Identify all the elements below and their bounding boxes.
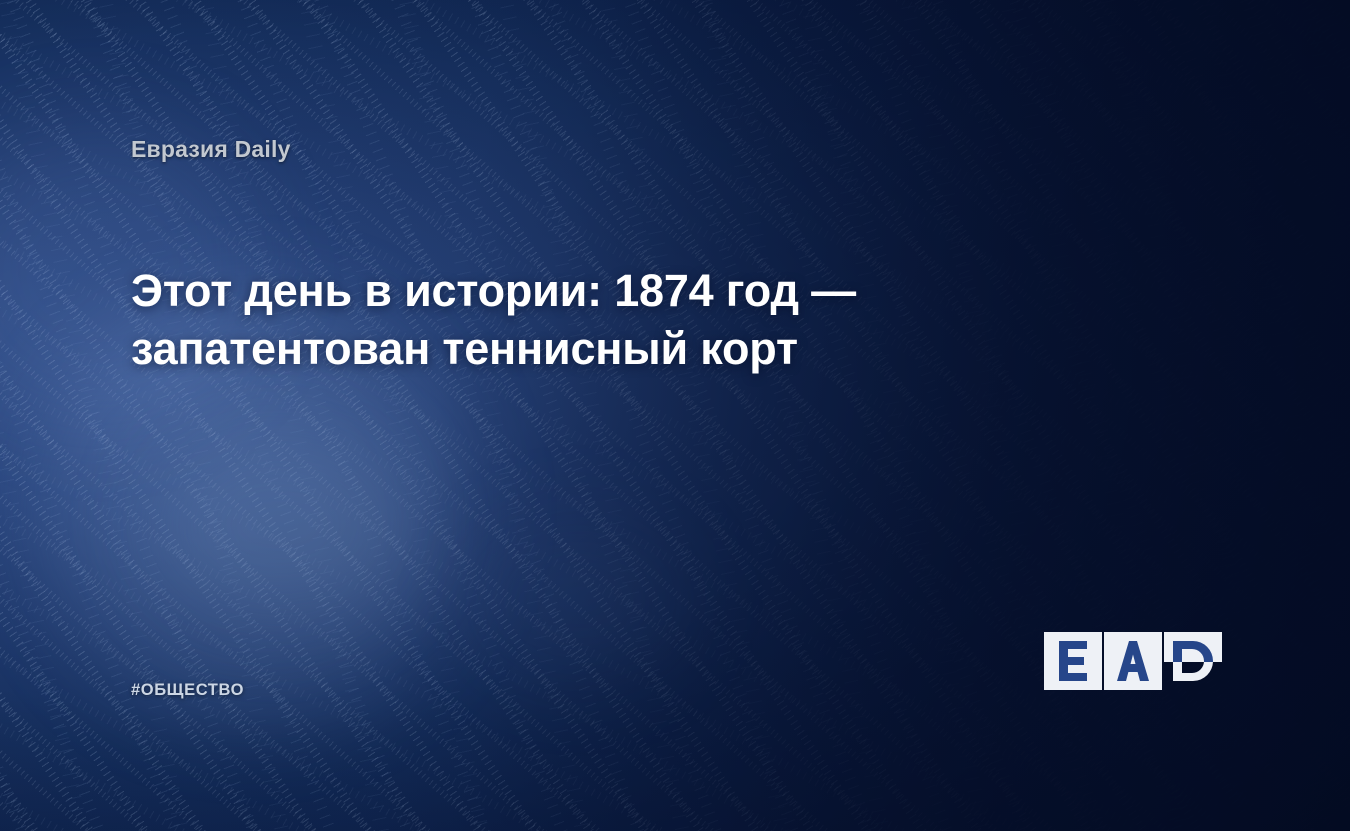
logo-d-lower-half xyxy=(1164,662,1222,690)
logo-tile-a xyxy=(1104,632,1162,690)
logo-tile-d xyxy=(1164,632,1222,690)
article-social-card: Евразия Daily Этот день в истории: 1874 … xyxy=(0,0,1350,831)
logo-d-upper-half xyxy=(1164,632,1222,662)
ead-logo[interactable] xyxy=(1044,632,1222,690)
site-name[interactable]: Евразия Daily xyxy=(131,136,291,163)
page-title: Этот день в истории: 1874 год — запатент… xyxy=(131,262,1031,378)
logo-tile-e xyxy=(1044,632,1102,690)
card-content: Евразия Daily Этот день в истории: 1874 … xyxy=(0,0,1350,831)
category-tag[interactable]: #ОБЩЕСТВО xyxy=(131,681,244,700)
